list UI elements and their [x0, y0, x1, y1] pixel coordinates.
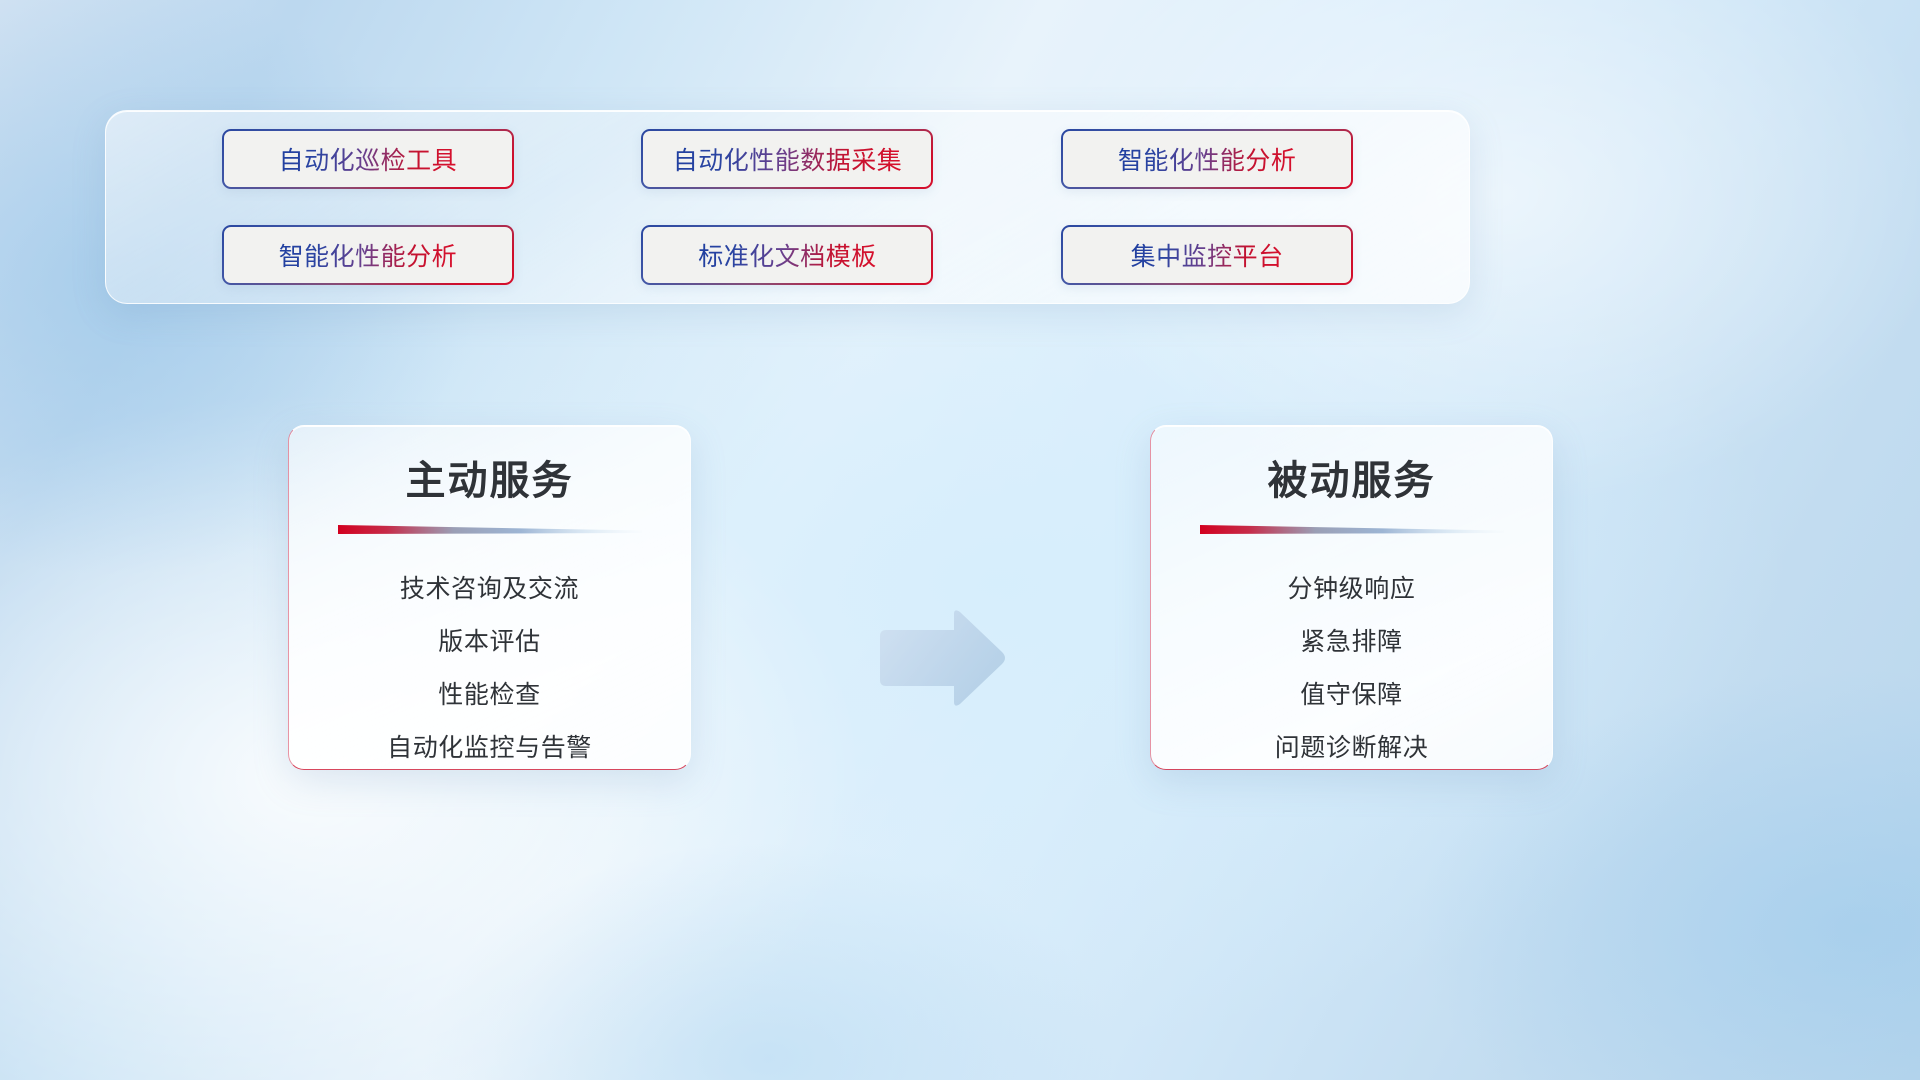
slide-canvas: 自动化巡检工具 自动化性能数据采集 智能化性能分析 智能化性能分析 标准化文档模…: [0, 0, 1920, 1080]
capability-pill-6-label: 集中监控平台: [1131, 237, 1284, 273]
service-card-proactive-title: 主动服务: [289, 448, 690, 506]
service-item[interactable]: 值守保障: [1151, 669, 1552, 722]
capability-pill-1-label: 自动化巡检工具: [279, 141, 458, 177]
capability-pill-3[interactable]: 智能化性能分析: [1061, 129, 1353, 189]
card-divider-reactive: [1200, 524, 1504, 537]
service-item[interactable]: 问题诊断解决: [1151, 722, 1552, 770]
capability-pill-1-inner: 自动化巡检工具: [224, 131, 512, 187]
service-card-proactive[interactable]: 主动服务 技术咨询及交流 版本评估 性能检查: [288, 425, 691, 770]
service-list-reactive: 分钟级响应 紧急排障 值守保障 问题诊断解决 SLA式服务: [1151, 563, 1552, 770]
capability-pill-1[interactable]: 自动化巡检工具: [222, 129, 514, 189]
capability-pill-3-inner: 智能化性能分析: [1063, 131, 1351, 187]
service-item[interactable]: 版本评估: [289, 616, 690, 669]
capability-pill-6-inner: 集中监控平台: [1063, 227, 1351, 283]
capability-pill-3-label: 智能化性能分析: [1118, 141, 1297, 177]
capability-pill-4-label: 智能化性能分析: [279, 237, 458, 273]
capability-pill-4-inner: 智能化性能分析: [224, 227, 512, 283]
service-item[interactable]: 技术咨询及交流: [289, 563, 690, 616]
capability-pill-2-inner: 自动化性能数据采集: [643, 131, 931, 187]
capability-pill-5-label: 标准化文档模板: [698, 237, 877, 273]
capability-pill-6[interactable]: 集中监控平台: [1061, 225, 1353, 285]
service-card-reactive-title: 被动服务: [1151, 448, 1552, 506]
service-item[interactable]: 自动化监控与告警: [289, 722, 690, 770]
capability-pill-5[interactable]: 标准化文档模板: [641, 225, 933, 285]
capability-pill-4[interactable]: 智能化性能分析: [222, 225, 514, 285]
service-card-reactive[interactable]: 被动服务 分钟级响应 紧急排障 值守保障: [1150, 425, 1553, 770]
capability-pill-2[interactable]: 自动化性能数据采集: [641, 129, 933, 189]
service-item[interactable]: 紧急排障: [1151, 616, 1552, 669]
arrow-right-icon: [872, 608, 1006, 708]
capability-panel: 自动化巡检工具 自动化性能数据采集 智能化性能分析 智能化性能分析 标准化文档模…: [105, 110, 1470, 304]
service-item[interactable]: 分钟级响应: [1151, 563, 1552, 616]
service-item[interactable]: 性能检查: [289, 669, 690, 722]
card-divider-proactive: [338, 524, 642, 537]
capability-pill-5-inner: 标准化文档模板: [643, 227, 931, 283]
capability-pill-2-label: 自动化性能数据采集: [673, 141, 903, 177]
service-list-proactive: 技术咨询及交流 版本评估 性能检查 自动化监控与告警 健康巡检: [289, 563, 690, 770]
